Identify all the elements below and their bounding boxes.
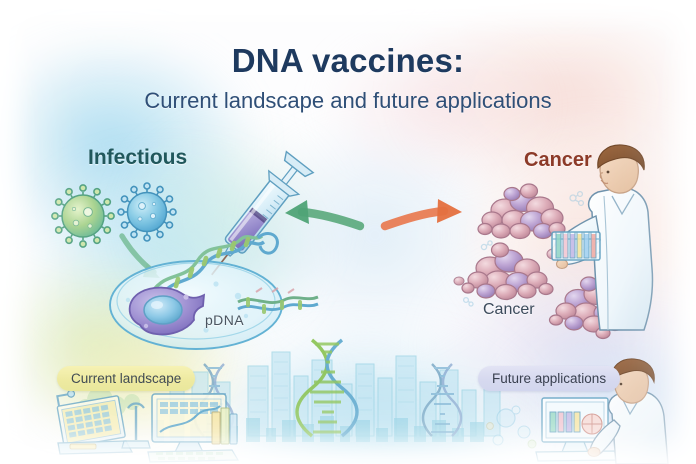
virus-particle-blue	[118, 183, 176, 241]
petri-dish-plasmid	[110, 233, 318, 349]
microscope-stand	[122, 404, 150, 449]
label-pdna: pDNA	[205, 313, 244, 327]
page-subtitle: Current landscape and future application…	[0, 90, 696, 112]
cancer-cell-cluster	[462, 243, 553, 300]
badge-future-applications: Future applications	[478, 366, 620, 391]
label-cancer-heading: Cancer	[524, 150, 592, 170]
arrow-left-green	[285, 200, 360, 226]
poster-canvas: DNA vaccines: Current landscape and futu…	[0, 0, 696, 464]
badge-current-landscape: Current landscape	[57, 366, 195, 391]
poster-heading-block: DNA vaccines: Current landscape and futu…	[0, 44, 696, 112]
test-tube-rack	[552, 232, 600, 260]
arrow-right-orange	[385, 199, 462, 226]
label-cancer-cells: Cancer	[483, 302, 535, 318]
virus-particle-green	[52, 185, 114, 247]
label-infectious: Infectious	[88, 147, 187, 168]
page-title: DNA vaccines:	[0, 44, 696, 77]
cancer-cell-cluster	[478, 184, 565, 239]
